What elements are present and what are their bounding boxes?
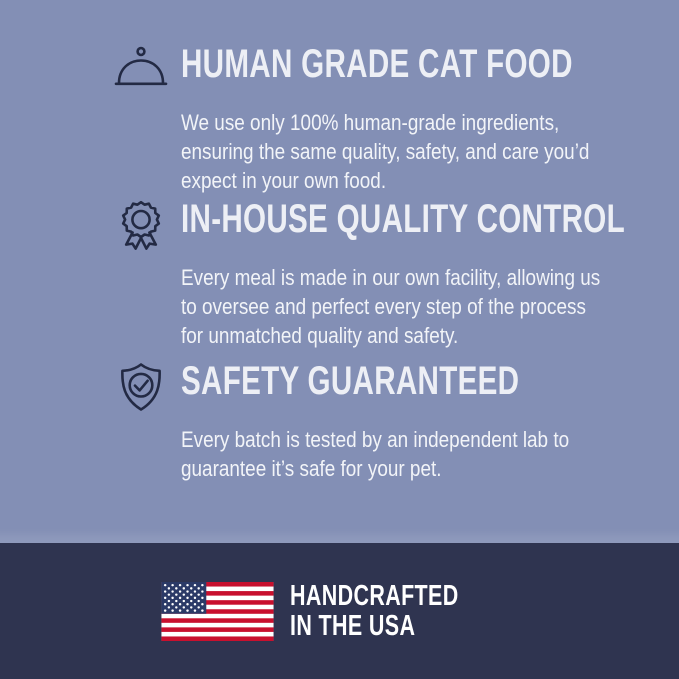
feature-header: HUMAN GRADE CAT FOOD bbox=[0, 44, 679, 92]
feature-header: SAFETY GUARANTEED bbox=[0, 361, 679, 409]
feature-body-line: expect in your own food. bbox=[181, 166, 542, 195]
feature-item-in-house-quality-control: IN-HOUSE QUALITY CONTROL Every meal is m… bbox=[0, 199, 679, 247]
feature-body-line: Every batch is tested by an independent … bbox=[181, 425, 542, 454]
feature-body-line: Every meal is made in our own facility, … bbox=[181, 263, 542, 292]
feature-body-line: guarantee it’s safe for your pet. bbox=[181, 454, 542, 483]
feature-header: IN-HOUSE QUALITY CONTROL bbox=[0, 199, 679, 247]
feature-item-human-grade-cat-food: HUMAN GRADE CAT FOOD We use only 100% hu… bbox=[0, 44, 679, 92]
feature-title: IN-HOUSE QUALITY CONTROL bbox=[181, 197, 625, 241]
usa-flag-icon bbox=[161, 582, 274, 641]
feature-body-line: ensuring the same quality, safety, and c… bbox=[181, 137, 542, 166]
handcrafted-in-usa-banner: HANDCRAFTED IN THE USA bbox=[0, 543, 679, 679]
feature-title: HUMAN GRADE CAT FOOD bbox=[181, 42, 573, 86]
shield-check-icon bbox=[112, 361, 170, 413]
product-feature-infographic: HUMAN GRADE CAT FOOD We use only 100% hu… bbox=[0, 0, 679, 679]
handcrafted-in-usa-text: HANDCRAFTED IN THE USA bbox=[290, 581, 518, 641]
feature-title: SAFETY GUARANTEED bbox=[181, 359, 519, 403]
banner-line-handcrafted: HANDCRAFTED bbox=[290, 581, 459, 611]
feature-body-line: to oversee and perfect every step of the… bbox=[181, 292, 542, 321]
section-divider-gradient bbox=[0, 529, 679, 543]
cloche-icon bbox=[112, 44, 170, 96]
feature-body: Every meal is made in our own facility, … bbox=[181, 263, 542, 350]
feature-item-safety-guaranteed: SAFETY GUARANTEED Every batch is tested … bbox=[0, 361, 679, 409]
feature-body: We use only 100% human-grade ingredients… bbox=[181, 108, 542, 195]
banner-line-in-the-usa: IN THE USA bbox=[290, 611, 459, 641]
feature-body: Every batch is tested by an independent … bbox=[181, 425, 542, 483]
feature-list: HUMAN GRADE CAT FOOD We use only 100% hu… bbox=[0, 0, 679, 543]
award-ribbon-icon bbox=[112, 199, 170, 251]
feature-body-line: for unmatched quality and safety. bbox=[181, 321, 542, 350]
feature-body-line: We use only 100% human-grade ingredients… bbox=[181, 108, 542, 137]
